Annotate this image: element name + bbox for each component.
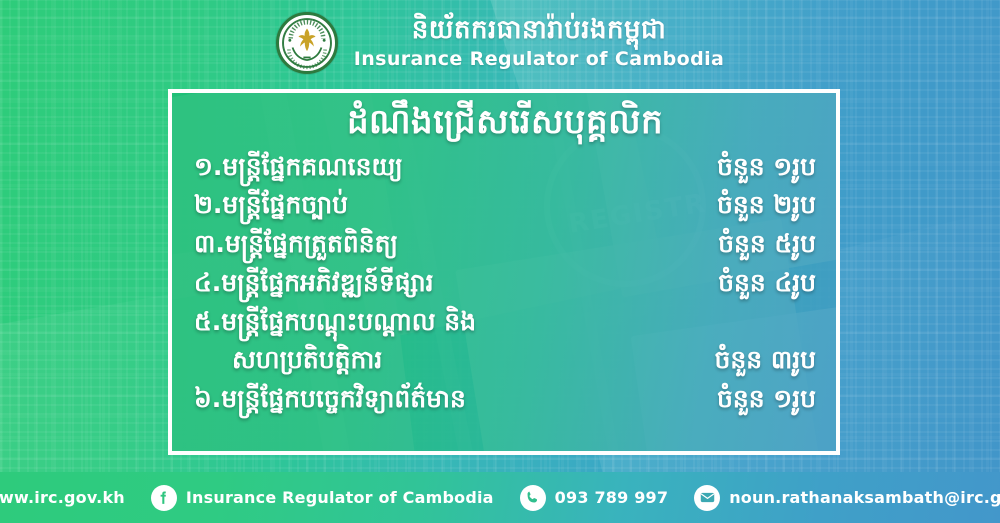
envelope-icon [694,485,720,511]
poster-footer: www.irc.gov.kh Insurance Regulator of Ca… [0,472,1000,523]
phone-icon [520,485,546,511]
job-quantity-label: ចំនួន ២រូប [666,186,816,225]
facebook-label: Insurance Regulator of Cambodia [186,488,494,507]
list-item: ៤.មន្ត្រីផ្នែកអភិវឌ្ឍន៍ទីផ្សារ ចំនួន ៤រូ… [194,264,816,303]
announcement-frame: REGISTR ដំណឹងជ្រើសរើសបុគ្គលិក ១.មន្ត្រីផ… [168,89,840,455]
footer-phone[interactable]: 093 789 997 [520,485,669,511]
brand-title-khmer: និយ័តករធានារ៉ាប់រងកម្ពុជា [412,16,667,46]
poster-canvas: និយ័តករធានារ៉ាប់រងកម្ពុជា Insurance Regu… [0,0,1000,523]
page-title: ដំណឹងជ្រើសរើសបុគ្គលិក [194,101,816,144]
list-item: ៦.មន្ត្រីផ្នែកបច្ចេកវិទ្យាព័ត៌មាន ចំនួន … [194,380,816,419]
footer-email[interactable]: noun.rathanaksambath@irc.gov.kh [694,485,1000,511]
brand-title-english: Insurance Regulator of Cambodia [354,48,725,70]
job-quantity-label: ចំនួន ៤រូប [666,264,816,303]
footer-facebook[interactable]: Insurance Regulator of Cambodia [151,485,494,511]
job-position-label: ១.មន្ត្រីផ្នែកគណនេយ្យ [194,148,403,187]
list-item: ៣.មន្ត្រីផ្នែកត្រួតពិនិត្យ ចំនួន ៥រូប [194,225,816,264]
footer-website[interactable]: www.irc.gov.kh [0,485,125,511]
list-item: សហប្រតិបត្តិការ ចំនួន ៣រូប [194,341,816,380]
phone-label: 093 789 997 [555,488,669,507]
garuda-bird-icon [279,15,335,71]
irc-emblem-logo [276,12,338,74]
facebook-icon [151,485,177,511]
job-position-label: ៣.មន្ត្រីផ្នែកត្រួតពិនិត្យ [194,225,398,264]
list-item: ១.មន្ត្រីផ្នែកគណនេយ្យ ចំនួន ១រូប [194,148,816,187]
list-item: ២.មន្ត្រីផ្នែកច្បាប់ ចំនួន ២រូប [194,186,816,225]
job-position-label: ៦.មន្ត្រីផ្នែកបច្ចេកវិទ្យាព័ត៌មាន [194,380,466,419]
job-position-label: ៥.មន្ត្រីផ្នែកបណ្ដុះបណ្ដាល និង [194,303,476,342]
job-quantity-label: ចំនួន ៣រូប [666,341,816,380]
job-quantity-label: ចំនួន ៥រូប [666,225,816,264]
job-quantity-label: ចំនួន ១រូប [666,148,816,187]
job-quantity-label: ចំនួន ១រូប [666,380,816,419]
brand-row: និយ័តករធានារ៉ាប់រងកម្ពុជា Insurance Regu… [276,12,725,74]
job-position-label: ៤.មន្ត្រីផ្នែកអភិវឌ្ឍន៍ទីផ្សារ [194,264,434,303]
email-label: noun.rathanaksambath@irc.gov.kh [729,488,1000,507]
job-position-list: ១.មន្ត្រីផ្នែកគណនេយ្យ ចំនួន ១រូប ២.មន្ត្… [194,148,816,419]
website-label: www.irc.gov.kh [0,488,125,507]
job-position-label: ២.មន្ត្រីផ្នែកច្បាប់ [194,186,348,225]
job-position-label-continued: សហប្រតិបត្តិការ [194,341,382,380]
announcement-content: ដំណឹងជ្រើសរើសបុគ្គលិក ១.មន្ត្រីផ្នែកគណនេ… [172,93,836,451]
brand-text: និយ័តករធានារ៉ាប់រងកម្ពុជា Insurance Regu… [354,16,725,70]
poster-header: និយ័តករធានារ៉ាប់រងកម្ពុជា Insurance Regu… [0,0,1000,86]
list-item: ៥.មន្ត្រីផ្នែកបណ្ដុះបណ្ដាល និង [194,303,816,342]
